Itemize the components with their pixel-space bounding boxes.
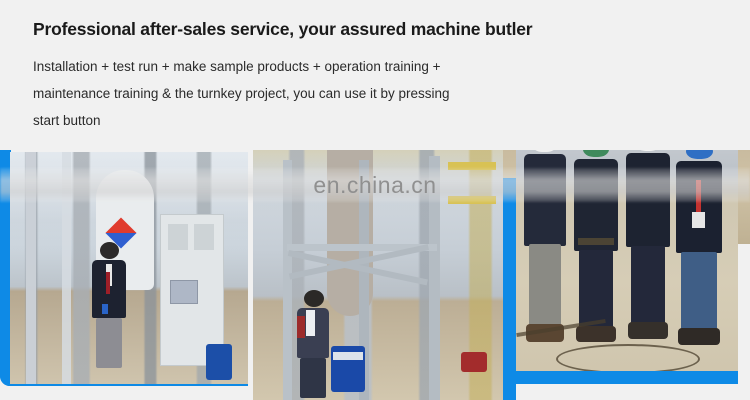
- bottom-left-photo: [10, 152, 248, 384]
- yellow-railing: [448, 196, 496, 204]
- bottom-middle-photo-scene: [253, 140, 503, 400]
- steel-column: [283, 160, 292, 400]
- worker-figure: [674, 140, 724, 346]
- after-sales-service-banner: Professional after-sales service, your a…: [0, 0, 750, 400]
- support-column: [62, 152, 71, 384]
- technician-figure: [92, 242, 126, 370]
- operator-figure: [295, 290, 331, 398]
- cable-coil: [556, 344, 700, 374]
- page-title: Professional after-sales service, your a…: [33, 20, 503, 39]
- red-cart: [461, 352, 487, 372]
- bottom-left-photo-scene: [10, 152, 248, 384]
- bottom-right-photo: [516, 130, 738, 382]
- worker-figure: [572, 138, 620, 344]
- bottom-middle-photo: [253, 140, 503, 400]
- service-description: Installation + test run + make sample pr…: [33, 53, 463, 134]
- yellow-railing: [448, 162, 496, 170]
- worker-figure: [522, 134, 568, 342]
- middle-photo-blue-accent-bar: [503, 178, 516, 400]
- blue-drum: [206, 344, 232, 380]
- corner-bracket-decoration: [500, 50, 553, 91]
- bottom-right-photo-scene: [516, 130, 738, 382]
- right-photo-blue-accent-bar: [503, 371, 738, 384]
- support-column: [26, 152, 36, 384]
- worker-figure: [624, 132, 672, 344]
- steel-column: [429, 156, 440, 400]
